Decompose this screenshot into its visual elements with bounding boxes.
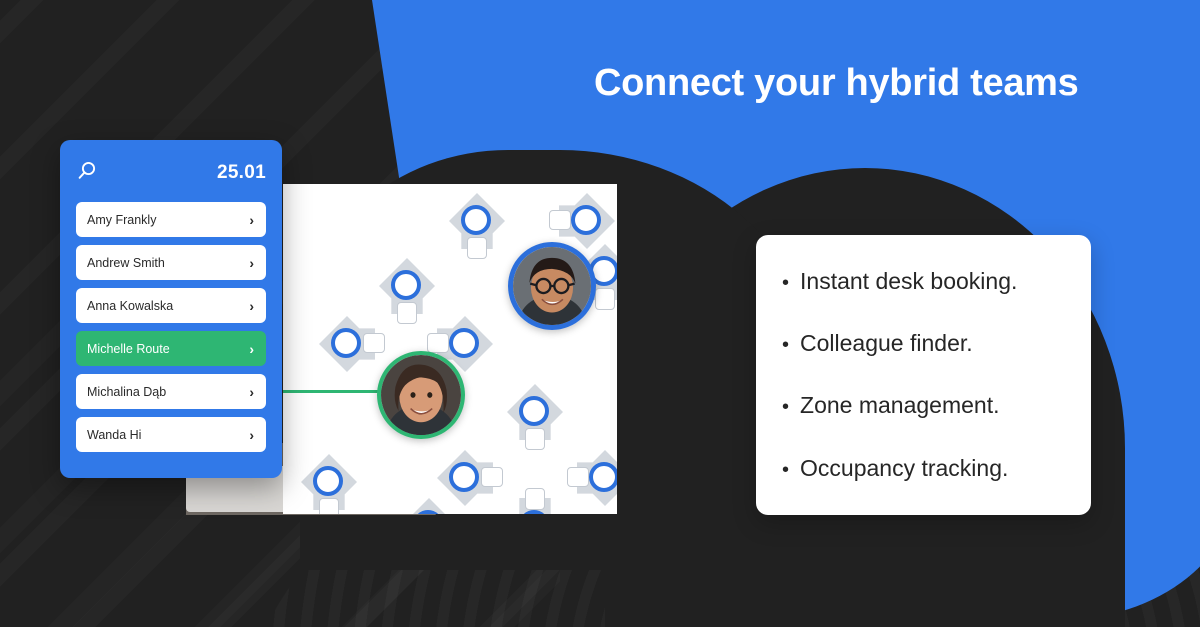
person-row[interactable]: Michelle Route› <box>76 331 266 366</box>
chair-icon <box>567 467 589 487</box>
feature-item: •Instant desk booking. <box>782 269 1065 294</box>
person-row[interactable]: Wanda Hi› <box>76 417 266 452</box>
seat-ring-icon <box>331 328 361 358</box>
chevron-right-icon[interactable]: › <box>249 213 254 227</box>
search-icon[interactable] <box>76 160 98 187</box>
desk-marker[interactable] <box>499 490 571 514</box>
desk-marker[interactable] <box>569 442 617 514</box>
person-name: Andrew Smith <box>87 256 165 270</box>
person-row[interactable]: Amy Frankly› <box>76 202 266 237</box>
chair-icon <box>525 488 545 510</box>
chair-icon <box>481 467 503 487</box>
poster-stage: Connect your hybrid teams <box>0 0 1200 627</box>
desk-marker[interactable] <box>393 490 465 514</box>
sidebar-header: 25.01 <box>76 158 266 188</box>
floorplan-map[interactable] <box>283 184 617 514</box>
people-list: Amy Frankly›Andrew Smith›Anna Kowalska›M… <box>76 202 266 452</box>
desk-marker[interactable] <box>441 185 513 257</box>
bullet-icon: • <box>782 397 789 417</box>
feature-item: •Colleague finder. <box>782 331 1065 356</box>
bullet-icon: • <box>782 335 789 355</box>
chevron-right-icon[interactable]: › <box>249 342 254 356</box>
person-row[interactable]: Anna Kowalska› <box>76 288 266 323</box>
page-title: Connect your hybrid teams <box>594 62 1114 105</box>
person-row[interactable]: Andrew Smith› <box>76 245 266 280</box>
chair-icon <box>525 428 545 450</box>
chevron-right-icon[interactable]: › <box>249 385 254 399</box>
feature-label: Instant desk booking. <box>800 269 1017 294</box>
chair-icon <box>397 302 417 324</box>
person-name: Anna Kowalska <box>87 299 173 313</box>
chair-icon <box>549 210 571 230</box>
feature-item: •Occupancy tracking. <box>782 456 1065 481</box>
chair-icon <box>363 333 385 353</box>
selection-connector-line <box>283 390 383 393</box>
chevron-right-icon[interactable]: › <box>249 428 254 442</box>
seat-ring-icon <box>313 466 343 496</box>
person-name: Amy Frankly <box>87 213 156 227</box>
seat-ring-icon <box>571 205 601 235</box>
person-row[interactable]: Michalina Dąb› <box>76 374 266 409</box>
seat-ring-icon <box>461 205 491 235</box>
feature-label: Zone management. <box>800 393 999 418</box>
seat-ring-icon <box>449 462 479 492</box>
desk-marker[interactable] <box>293 446 365 514</box>
bullet-icon: • <box>782 273 789 293</box>
seat-ring-icon <box>589 462 617 492</box>
date-label: 25.01 <box>217 162 266 184</box>
avatar-female[interactable] <box>377 351 465 439</box>
seat-ring-icon <box>519 396 549 426</box>
chair-icon <box>319 498 339 514</box>
feature-label: Colleague finder. <box>800 331 973 356</box>
feature-label: Occupancy tracking. <box>800 456 1008 481</box>
chair-icon <box>427 333 449 353</box>
desk-marker[interactable] <box>499 376 571 448</box>
person-name: Michelle Route <box>87 342 170 356</box>
chair-icon <box>467 237 487 259</box>
feature-item: •Zone management. <box>782 393 1065 418</box>
person-name: Wanda Hi <box>87 428 141 442</box>
chevron-right-icon[interactable]: › <box>249 299 254 313</box>
chevron-right-icon[interactable]: › <box>249 256 254 270</box>
avatar-male[interactable] <box>508 242 596 330</box>
people-sidebar: 25.01 Amy Frankly›Andrew Smith›Anna Kowa… <box>60 140 282 478</box>
desk-marker[interactable] <box>311 308 383 380</box>
bullet-icon: • <box>782 460 789 480</box>
seat-ring-icon <box>391 270 421 300</box>
chair-icon <box>595 288 615 310</box>
seat-ring-icon <box>449 328 479 358</box>
person-name: Michalina Dąb <box>87 385 166 399</box>
features-card: •Instant desk booking.•Colleague finder.… <box>756 235 1091 515</box>
